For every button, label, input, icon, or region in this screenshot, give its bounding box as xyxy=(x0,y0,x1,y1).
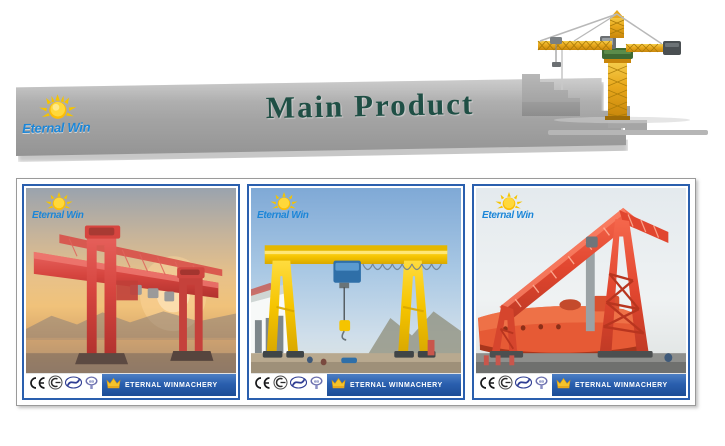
brand-banner: ETERNAL WINMACHERY xyxy=(102,374,236,396)
iso9001-mark-icon: ISO xyxy=(309,375,324,396)
sgs-mark-icon xyxy=(515,375,532,395)
certification-icons: ISO xyxy=(251,375,324,396)
c-circle-mark-icon xyxy=(498,375,513,395)
photo-watermark-text: Eternal Win xyxy=(257,210,343,221)
certification-bar: ISO ETERNAL WINMACHERY xyxy=(476,373,686,396)
ce-mark-icon xyxy=(254,376,271,395)
ce-mark-icon xyxy=(479,376,496,395)
product-photo[interactable]: Eternal Win xyxy=(251,188,461,373)
iso9001-mark-icon: ISO xyxy=(84,375,99,396)
page-title: Main Product xyxy=(225,85,516,127)
certification-bar: ISO ETERNAL WINMACHERY xyxy=(251,373,461,396)
brand-banner: ETERNAL WINMACHERY xyxy=(552,374,686,396)
brand-banner-text: ETERNAL WINMACHERY xyxy=(350,382,443,389)
banner-ground-line xyxy=(548,130,708,135)
certification-icons: ISO xyxy=(476,375,549,396)
product-gallery: Eternal Win xyxy=(16,178,696,406)
banner: Main Product Eternal xyxy=(0,0,725,170)
brand-banner-text: ETERNAL WINMACHERY xyxy=(125,382,218,389)
certification-bar: ISO ETERNAL WINMACHERY xyxy=(26,373,236,396)
crown-icon xyxy=(331,376,346,395)
certification-icons: ISO xyxy=(26,375,99,396)
sgs-mark-icon xyxy=(290,375,307,395)
product-card[interactable]: Eternal Win xyxy=(472,184,690,400)
crown-icon xyxy=(106,376,121,395)
photo-watermark: Eternal Win xyxy=(32,192,118,226)
c-circle-mark-icon xyxy=(48,375,63,395)
brand-banner: ETERNAL WINMACHERY xyxy=(327,374,461,396)
photo-watermark: Eternal Win xyxy=(482,192,568,226)
product-photo[interactable]: Eternal Win xyxy=(476,188,686,373)
sgs-mark-icon xyxy=(65,375,82,395)
product-card-strip: Eternal Win xyxy=(22,184,690,400)
ce-mark-icon xyxy=(29,376,46,395)
svg-text:ISO: ISO xyxy=(89,379,95,383)
svg-text:ISO: ISO xyxy=(539,379,545,383)
photo-watermark-text: Eternal Win xyxy=(482,210,568,221)
product-card[interactable]: Eternal Win xyxy=(247,184,465,400)
crown-icon xyxy=(556,376,571,395)
tower-crane-icon xyxy=(522,8,722,128)
brand-logo: Eternal Win xyxy=(22,93,119,145)
brand-logo-text: Eternal Win xyxy=(22,119,118,136)
iso9001-mark-icon: ISO xyxy=(534,375,549,396)
product-photo[interactable]: Eternal Win xyxy=(26,188,236,373)
brand-banner-text: ETERNAL WINMACHERY xyxy=(575,382,668,389)
c-circle-mark-icon xyxy=(273,375,288,395)
photo-watermark-text: Eternal Win xyxy=(32,210,118,221)
product-card[interactable]: Eternal Win xyxy=(22,184,240,400)
svg-text:ISO: ISO xyxy=(314,379,320,383)
photo-watermark: Eternal Win xyxy=(257,192,343,226)
